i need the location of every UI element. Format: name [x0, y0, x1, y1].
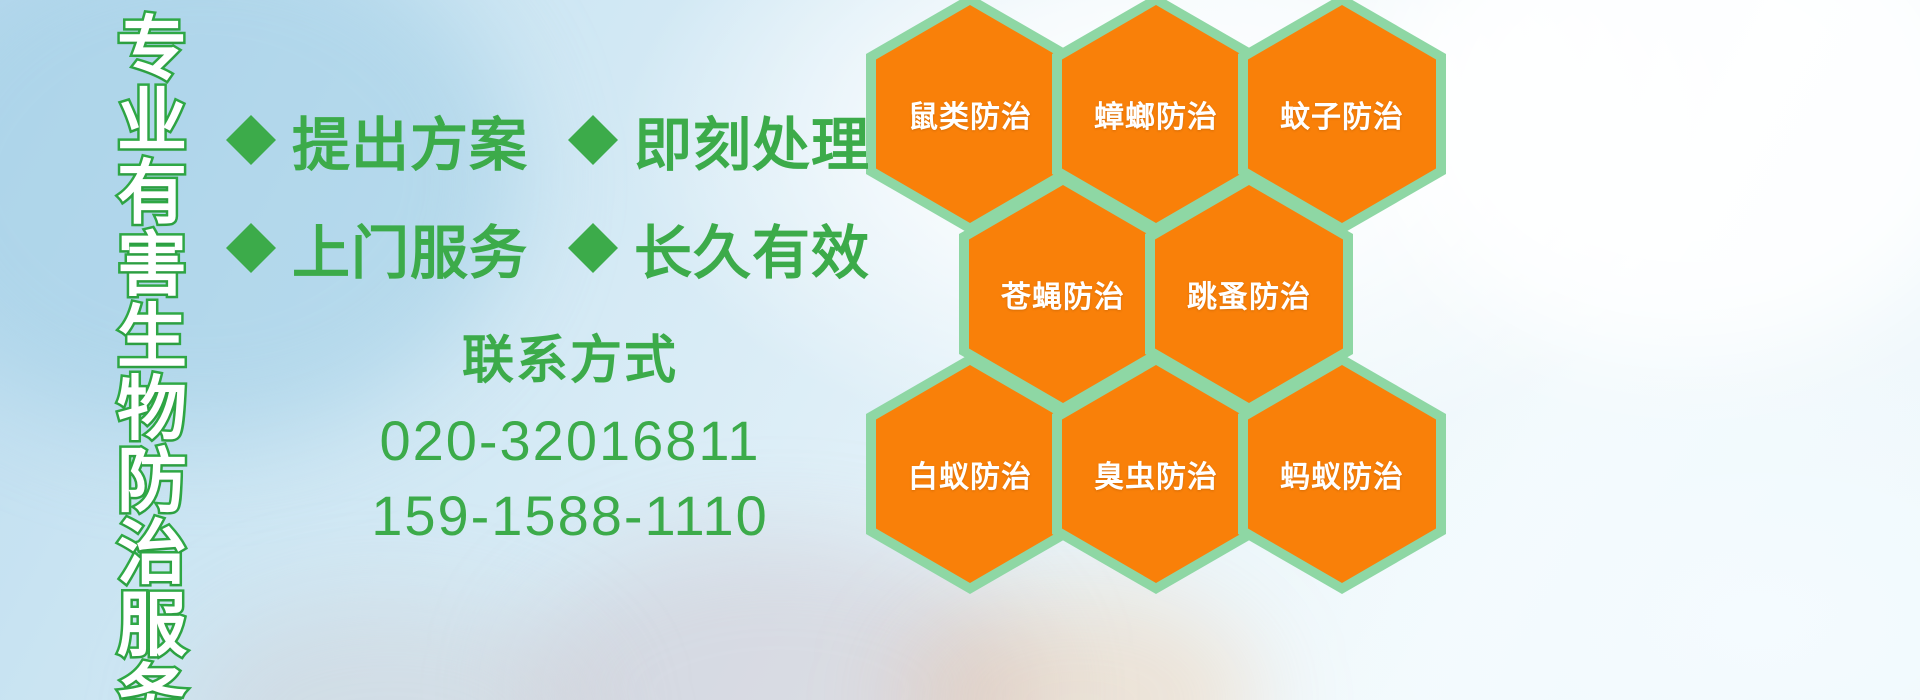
feature-label: 提出方案 — [292, 98, 528, 182]
hex-label: 苍蝇防治 — [1001, 272, 1125, 316]
feature-item: 提出方案 — [226, 98, 528, 182]
vertical-headline-char: 专 — [117, 14, 187, 85]
hex-inner: 臭虫防治 — [1062, 365, 1250, 583]
vertical-headline-char: 服 — [117, 590, 187, 661]
vertical-headline-char: 有 — [117, 158, 187, 229]
hex-label: 蚂蚁防治 — [1280, 452, 1404, 496]
background-blob-bottom-left — [180, 600, 600, 700]
vertical-headline: 专 业 有 害 生 物 防 治 服 务 — [104, 14, 200, 674]
service-hexagon-grid: 鼠类防治 蟑螂防治 蚊子防治 苍蝇防治 跳蚤防治 白蚁防治 — [856, 0, 1476, 566]
feature-row: 上门服务 长久有效 — [226, 194, 866, 302]
contact-phone-landline[interactable]: 020-32016811 — [300, 403, 840, 478]
feature-label: 即刻处理 — [634, 98, 870, 182]
background-blob-bottom-orange — [900, 590, 1260, 700]
feature-label: 上门服务 — [292, 206, 528, 290]
vertical-headline-char: 生 — [117, 302, 187, 373]
feature-row: 提出方案 即刻处理 — [226, 86, 866, 194]
diamond-bullet-icon — [226, 198, 276, 248]
hex-label: 鼠类防治 — [908, 92, 1032, 136]
vertical-headline-char: 害 — [117, 230, 187, 301]
contact-phone-mobile[interactable]: 159-1588-1110 — [300, 478, 840, 553]
hex-label: 白蚁防治 — [908, 452, 1032, 496]
vertical-headline-char: 治 — [117, 518, 187, 589]
hex-label: 臭虫防治 — [1094, 452, 1218, 496]
feature-item: 长久有效 — [568, 206, 870, 290]
feature-item: 即刻处理 — [568, 98, 870, 182]
pest-control-service-banner: 专 业 有 害 生 物 防 治 服 务 提出方案 即刻处理 上门服务 — [0, 0, 1920, 700]
vertical-headline-char: 物 — [117, 374, 187, 445]
hex-inner: 白蚁防治 — [876, 365, 1064, 583]
hex-inner: 蚂蚁防治 — [1248, 365, 1436, 583]
vertical-headline-char: 业 — [117, 86, 187, 157]
diamond-bullet-icon — [568, 198, 618, 248]
diamond-bullet-icon — [568, 90, 618, 140]
hex-label: 蚊子防治 — [1280, 92, 1404, 136]
contact-heading: 联系方式 — [300, 318, 840, 393]
contact-block: 联系方式 020-32016811 159-1588-1110 — [300, 318, 840, 553]
feature-label: 长久有效 — [634, 206, 870, 290]
feature-item: 上门服务 — [226, 206, 528, 290]
vertical-headline-char: 务 — [117, 662, 187, 700]
hex-label: 蟑螂防治 — [1094, 92, 1218, 136]
vertical-headline-char: 防 — [117, 446, 187, 517]
diamond-bullet-icon — [226, 90, 276, 140]
hex-label: 跳蚤防治 — [1187, 272, 1311, 316]
feature-list: 提出方案 即刻处理 上门服务 长久有效 — [226, 86, 866, 302]
